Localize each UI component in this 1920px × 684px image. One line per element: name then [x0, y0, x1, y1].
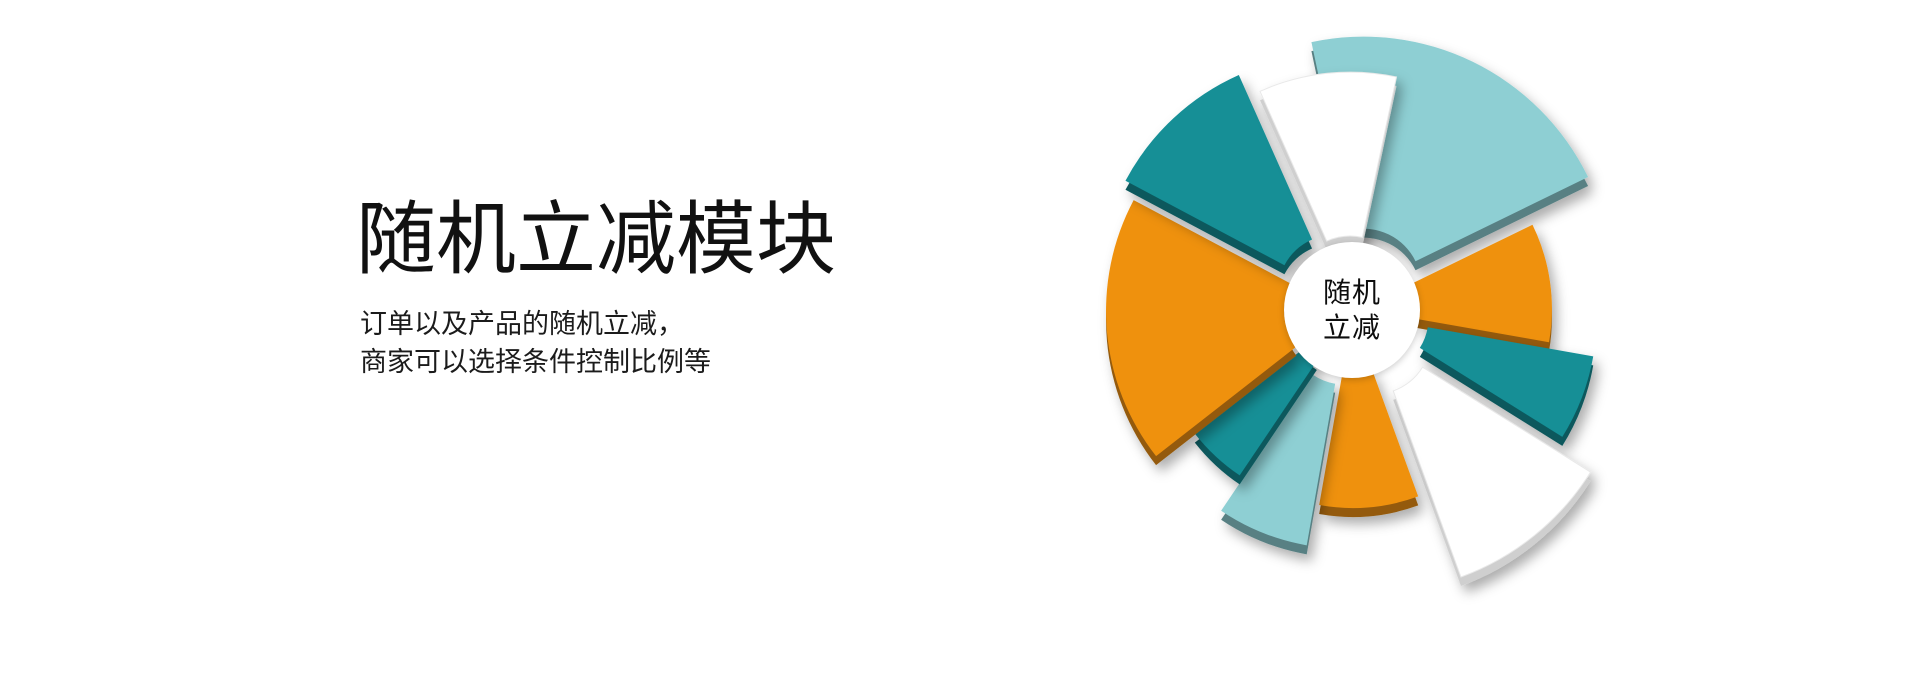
page-subtitle: 订单以及产品的随机立减， 商家可以选择条件控制比例等: [360, 305, 996, 382]
pinwheel-graphic: 随机 立减: [1010, 20, 1670, 660]
center-badge: 随机 立减: [1284, 242, 1420, 378]
center-label-line-1: 随机: [1323, 275, 1381, 310]
headline-block: 随机立减模块 订单以及产品的随机立减， 商家可以选择条件控制比例等: [356, 198, 996, 381]
slide-canvas: 随机立减模块 订单以及产品的随机立减， 商家可以选择条件控制比例等 随机 立减: [0, 0, 1920, 684]
page-title: 随机立减模块: [356, 198, 996, 283]
center-label-line-2: 立减: [1323, 310, 1381, 345]
